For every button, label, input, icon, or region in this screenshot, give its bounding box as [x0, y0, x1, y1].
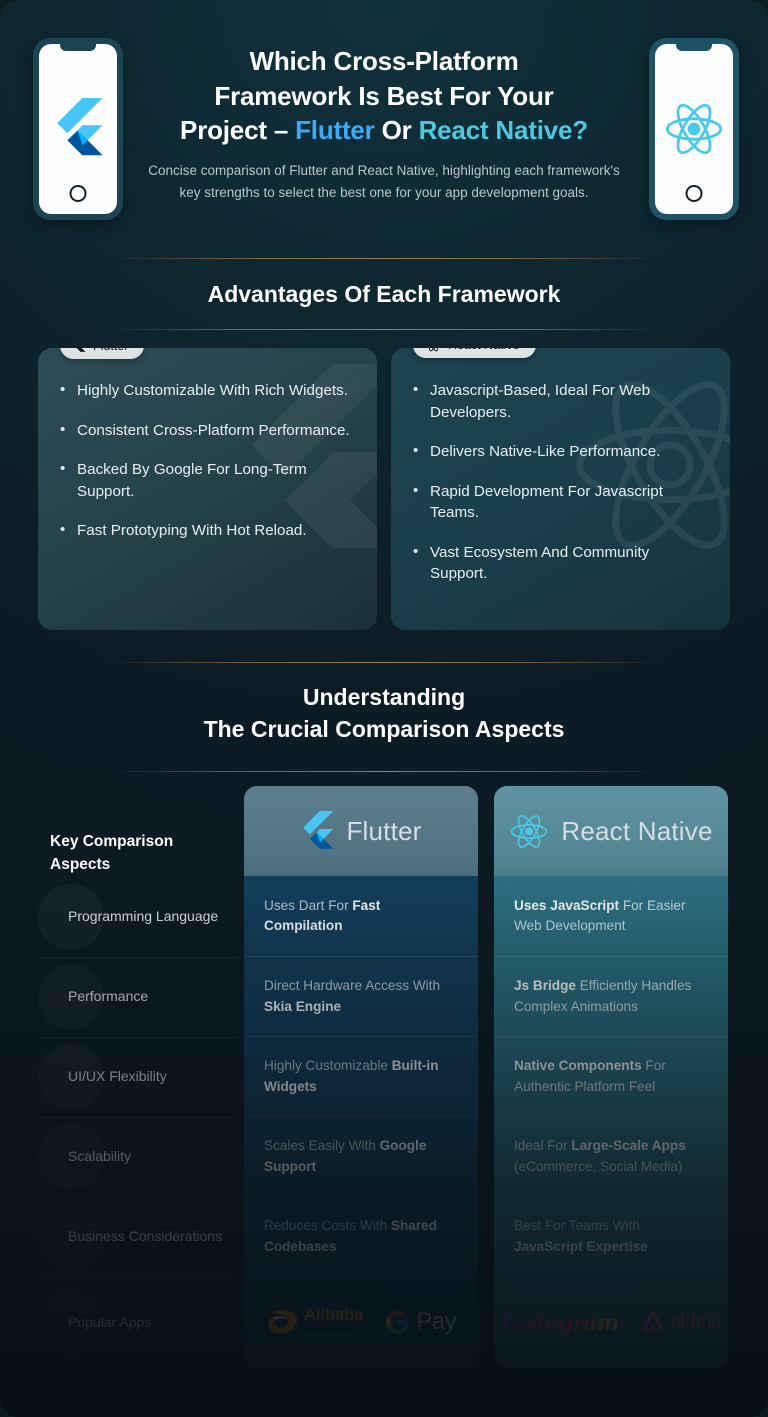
alibaba-tagline: Global trade starts here.	[304, 1333, 356, 1338]
phone-screen	[655, 44, 733, 214]
table-cell: Reduces Costs With Shared Codebases	[244, 1196, 478, 1276]
phone-notch	[60, 44, 96, 51]
advantages-cards: Flutter Highly Customizable With Rich Wi…	[0, 348, 768, 630]
alibaba-mark-icon	[266, 1308, 300, 1336]
hero-title-line1: Which Cross-Platform	[249, 46, 518, 76]
list-item: Consistent Cross-Platform Performance.	[60, 420, 357, 442]
cell-text-bold: Skia Engine	[264, 999, 341, 1014]
hero-title-line2: Framework Is Best For Your	[214, 81, 553, 111]
comparison-table: Key Comparison Aspects Programming Langu…	[0, 786, 768, 1369]
hero-section: Which Cross-Platform Framework Is Best F…	[0, 0, 768, 258]
google-pay-label: Pay	[416, 1308, 456, 1336]
table-row-aspect: Business Considerations	[40, 1197, 228, 1277]
airbnb-label: airbnb	[671, 1311, 722, 1333]
table-row-aspect: Popular Apps	[40, 1277, 228, 1369]
table-cell: Direct Hardware Access With Skia Engine	[244, 956, 478, 1036]
page-title: Which Cross-Platform Framework Is Best F…	[146, 44, 622, 148]
table-row-aspect: Programming Language	[40, 877, 228, 957]
table-column-flutter: Flutter Uses Dart For Fast Compilation D…	[244, 786, 478, 1369]
aspect-label: Scalability	[68, 1147, 131, 1167]
column-header-label: React Native	[561, 816, 712, 847]
cell-text-pre: Ideal For	[514, 1138, 571, 1153]
phone-screen	[39, 44, 117, 214]
table-cell: Uses Dart For Fast Compilation	[244, 876, 478, 956]
hero-title-flutter: Flutter	[295, 115, 374, 145]
instagram-logo: Instagram	[500, 1310, 618, 1335]
table-row-aspect: Scalability	[40, 1117, 228, 1197]
column-header-label: Flutter	[346, 816, 421, 847]
comparison-heading-line2: The Crucial Comparison Aspects	[204, 716, 565, 742]
phone-notch	[676, 44, 712, 51]
table-cell: Js Bridge Efficiently Handles Complex An…	[494, 956, 728, 1036]
list-item: Delivers Native-Like Performance.	[413, 441, 710, 463]
comparison-heading: Understanding The Crucial Comparison Asp…	[0, 662, 768, 745]
aspect-label: Business Considerations	[68, 1227, 222, 1247]
alibaba-name: Alibaba	[304, 1306, 363, 1323]
cell-text-pre: Reduces Costs With	[264, 1218, 391, 1233]
react-logo-icon	[663, 101, 725, 157]
table-cell: Best For Teams With JavaScript Expertise	[494, 1196, 728, 1276]
cell-text-bold: Uses JavaScript	[514, 898, 619, 913]
alibaba-region: JAPAN	[332, 1323, 363, 1332]
cell-text-bold: Native Components	[514, 1058, 642, 1073]
table-column-body-react: Uses JavaScript For Easier Web Developme…	[494, 876, 728, 1368]
table-cell: Uses JavaScript For Easier Web Developme…	[494, 876, 728, 956]
badge-flutter-label: Flutter	[93, 348, 128, 353]
airbnb-mark-icon	[641, 1310, 665, 1335]
key-column-header-line1: Key Comparison	[50, 833, 173, 850]
hero-title-mid: Or	[375, 115, 419, 145]
cell-text-post: (eCommerce, Social Media)	[514, 1159, 682, 1174]
cell-text-bold: Js Bridge	[514, 978, 576, 993]
flutter-logo-icon	[52, 98, 104, 160]
home-indicator	[686, 185, 703, 202]
alibaba-wordmark: Alibaba JAPAN Global trade starts here.	[304, 1306, 363, 1338]
react-logo-icon	[426, 348, 441, 352]
table-cell-logos-flutter: Alibaba JAPAN Global trade starts here.	[244, 1276, 478, 1368]
flutter-logo-icon	[73, 348, 86, 353]
table-cell: Native Components For Authentic Platform…	[494, 1036, 728, 1116]
advantages-heading: Advantages Of Each Framework	[0, 258, 768, 330]
phone-mockup-flutter	[33, 38, 123, 220]
home-indicator	[70, 185, 87, 202]
airbnb-logo: airbnb	[641, 1310, 722, 1335]
key-column-header: Key Comparison Aspects	[40, 786, 228, 877]
google-pay-logo: Pay	[385, 1308, 456, 1336]
badge-flutter: Flutter	[60, 348, 144, 359]
cell-text-pre: Uses Dart For	[264, 898, 352, 913]
cell-text-pre: Highly Customizable	[264, 1058, 392, 1073]
advantages-heading-block: Advantages Of Each Framework	[0, 258, 768, 330]
list-item: Vast Ecosystem And Community Support.	[413, 542, 710, 585]
advantages-card-react: React Native Javascript-Based, Ideal For…	[391, 348, 730, 630]
table-cell-logos-react: Instagram airbnb	[494, 1276, 728, 1368]
hero-title-react: React Native?	[419, 115, 588, 145]
cell-text-bold: Large-Scale Apps	[571, 1138, 685, 1153]
list-item: Backed By Google For Long-Term Support.	[60, 459, 357, 502]
hero-text: Which Cross-Platform Framework Is Best F…	[146, 44, 622, 203]
table-column-react: React Native Uses JavaScript For Easier …	[494, 786, 728, 1369]
divider-top	[108, 662, 660, 663]
table-column-body-flutter: Uses Dart For Fast Compilation Direct Ha…	[244, 876, 478, 1368]
badge-react: React Native	[413, 348, 536, 358]
divider-bottom	[108, 329, 660, 330]
aspect-label: Performance	[68, 987, 148, 1007]
hero-title-line3-pre: Project –	[180, 115, 295, 145]
cell-text-bold: JavaScript Expertise	[514, 1239, 648, 1254]
badge-react-label: React Native	[448, 348, 520, 352]
list-item: Javascript-Based, Ideal For Web Develope…	[413, 380, 710, 423]
list-item: Fast Prototyping With Hot Reload.	[60, 520, 357, 542]
google-g-icon	[385, 1310, 410, 1335]
table-cell: Ideal For Large-Scale Apps (eCommerce, S…	[494, 1116, 728, 1196]
list-item: Rapid Development For Javascript Teams.	[413, 481, 710, 524]
cell-text-pre: Direct Hardware Access With	[264, 978, 440, 993]
phone-mockup-react	[649, 38, 739, 220]
infographic-page: Which Cross-Platform Framework Is Best F…	[0, 0, 768, 1417]
alibaba-japan-logo: Alibaba JAPAN Global trade starts here.	[266, 1306, 363, 1338]
cell-text-pre: Scales Easily With	[264, 1138, 380, 1153]
table-cell: Scales Easily With Google Support	[244, 1116, 478, 1196]
table-key-column: Key Comparison Aspects Programming Langu…	[40, 786, 228, 1369]
advantages-list-react: Javascript-Based, Ideal For Web Develope…	[413, 380, 710, 585]
cell-text-pre: Best For Teams With	[514, 1218, 640, 1233]
key-column-header-line2: Aspects	[50, 856, 110, 873]
divider-bottom	[108, 771, 660, 772]
comparison-heading-block: Understanding The Crucial Comparison Asp…	[0, 662, 768, 772]
aspect-label: Popular Apps	[68, 1313, 151, 1333]
advantages-list-flutter: Highly Customizable With Rich Widgets. C…	[60, 380, 357, 542]
column-header-flutter: Flutter	[244, 786, 478, 876]
flutter-logo-icon	[300, 811, 334, 852]
aspect-label: UI/UX Flexibility	[68, 1067, 167, 1087]
table-cell: Highly Customizable Built-in Widgets	[244, 1036, 478, 1116]
react-logo-icon	[509, 813, 549, 850]
column-header-react: React Native	[494, 786, 728, 876]
table-row-aspect: UI/UX Flexibility	[40, 1037, 228, 1117]
hero-subtitle: Concise comparison of Flutter and React …	[146, 160, 622, 204]
comparison-heading-line1: Understanding	[303, 684, 465, 710]
divider-top	[108, 258, 660, 259]
aspect-label: Programming Language	[68, 907, 218, 927]
advantages-card-flutter: Flutter Highly Customizable With Rich Wi…	[38, 348, 377, 630]
list-item: Highly Customizable With Rich Widgets.	[60, 380, 357, 402]
table-row-aspect: Performance	[40, 957, 228, 1037]
